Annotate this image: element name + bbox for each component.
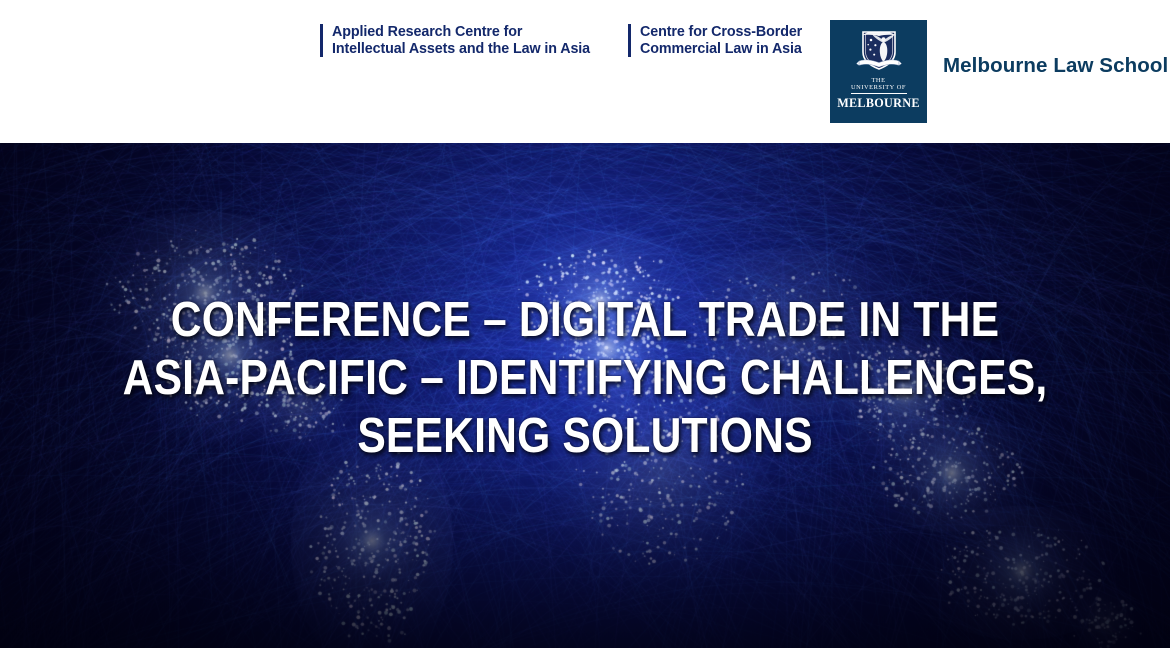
university-of-melbourne-logo: THE UNIVERSITY OF MELBOURNE [830,20,927,123]
title-line-2: ASIA-PACIFIC – IDENTIFYING CHALLENGES, [76,349,1094,407]
centre-rule-icon [320,24,323,57]
page-header: Applied Research Centre for Intellectual… [0,0,1170,143]
centre-block-arc: Applied Research Centre for Intellectual… [320,24,590,57]
title-line-1: CONFERENCE – DIGITAL TRADE IN THE [76,291,1094,349]
logo-wordmark: MELBOURNE [837,96,920,111]
logo-subtitle: THE UNIVERSITY OF [851,77,907,94]
centre-label-cbcl: Centre for Cross-Border Commercial Law i… [640,24,802,57]
centre-block-cbcl: Centre for Cross-Border Commercial Law i… [628,24,802,57]
melbourne-law-school-title: Melbourne Law School [943,54,1168,78]
centre-label-arc: Applied Research Centre for Intellectual… [332,24,590,57]
university-crest-icon [853,28,905,74]
centre-rule-icon [628,24,631,57]
conference-title: CONFERENCE – DIGITAL TRADE IN THE ASIA-P… [76,291,1094,465]
hero-banner: CONFERENCE – DIGITAL TRADE IN THE ASIA-P… [0,143,1170,648]
title-line-3: SEEKING SOLUTIONS [76,407,1094,465]
